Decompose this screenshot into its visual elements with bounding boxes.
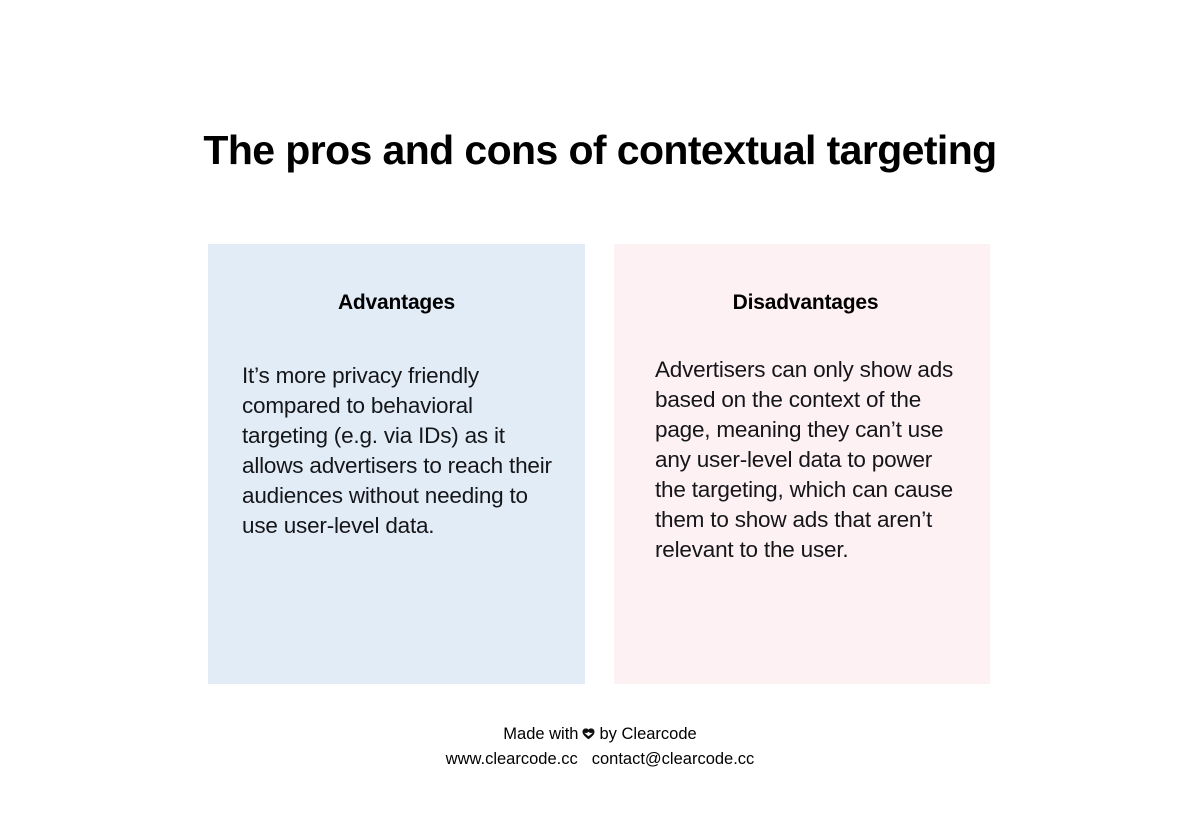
footer-credit-line: Made withby Clearcode — [0, 722, 1200, 747]
disadvantages-card: Disadvantages Advertisers can only show … — [614, 244, 990, 684]
disadvantages-card-heading: Disadvantages — [655, 290, 962, 316]
heart-icon — [581, 726, 596, 741]
infographic-page: The pros and cons of contextual targetin… — [0, 0, 1200, 817]
advantages-card-body: It’s more privacy friendly compared to b… — [242, 361, 553, 541]
footer-by-clearcode-text: by Clearcode — [599, 725, 696, 743]
footer-website-link[interactable]: www.clearcode.cc — [446, 747, 578, 772]
page-title: The pros and cons of contextual targetin… — [0, 122, 1200, 178]
footer-made-with-text: Made with — [503, 725, 578, 743]
footer-email-link[interactable]: contact@clearcode.cc — [592, 747, 755, 772]
comparison-cards: Advantages It’s more privacy friendly co… — [208, 244, 990, 684]
advantages-card-heading: Advantages — [242, 290, 553, 316]
disadvantages-card-body: Advertisers can only show ads based on t… — [655, 355, 962, 565]
footer: Made withby Clearcode www.clearcode.ccco… — [0, 722, 1200, 772]
footer-contact-line: www.clearcode.cccontact@clearcode.cc — [439, 747, 762, 772]
advantages-card: Advantages It’s more privacy friendly co… — [208, 244, 585, 684]
